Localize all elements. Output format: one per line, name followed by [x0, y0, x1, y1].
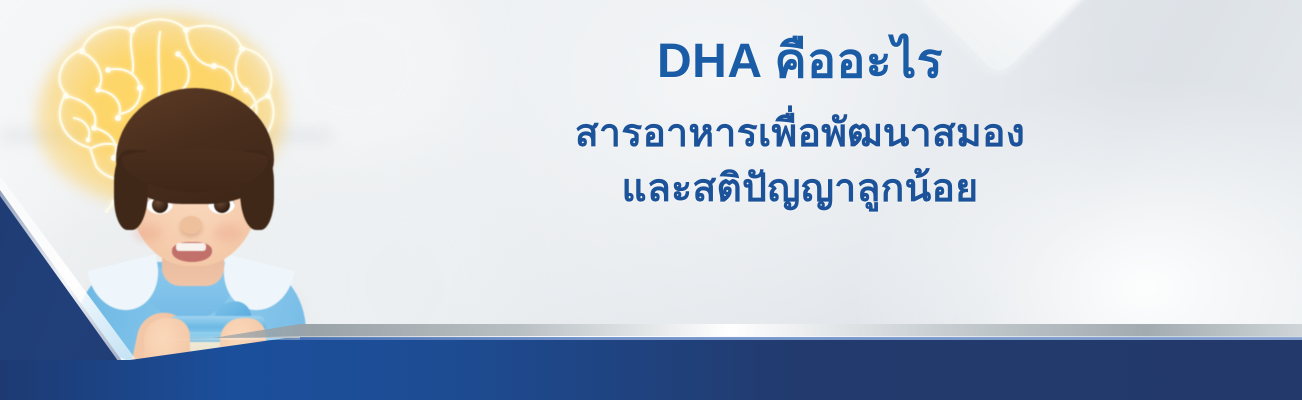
page-title: DHA คืออะไร [440, 36, 1160, 88]
band-blue-edge-line [300, 337, 1302, 340]
subtitle-line-1: สารอาหารเพื่อพัฒนาสมอง [440, 106, 1160, 161]
subtitle-line-2: และสติปัญญาลูกน้อย [440, 161, 1160, 216]
dha-hero-banner: smart+ DHA คืออะไร สารอาหารเพื่อพัฒนาสมอ… [0, 0, 1302, 400]
banner-text-block: DHA คืออะไร สารอาหารเพื่อพัฒนาสมอง และสต… [440, 36, 1160, 217]
child-teeth [176, 243, 206, 251]
child-nose [180, 216, 202, 234]
child-cheek-right [214, 224, 242, 242]
